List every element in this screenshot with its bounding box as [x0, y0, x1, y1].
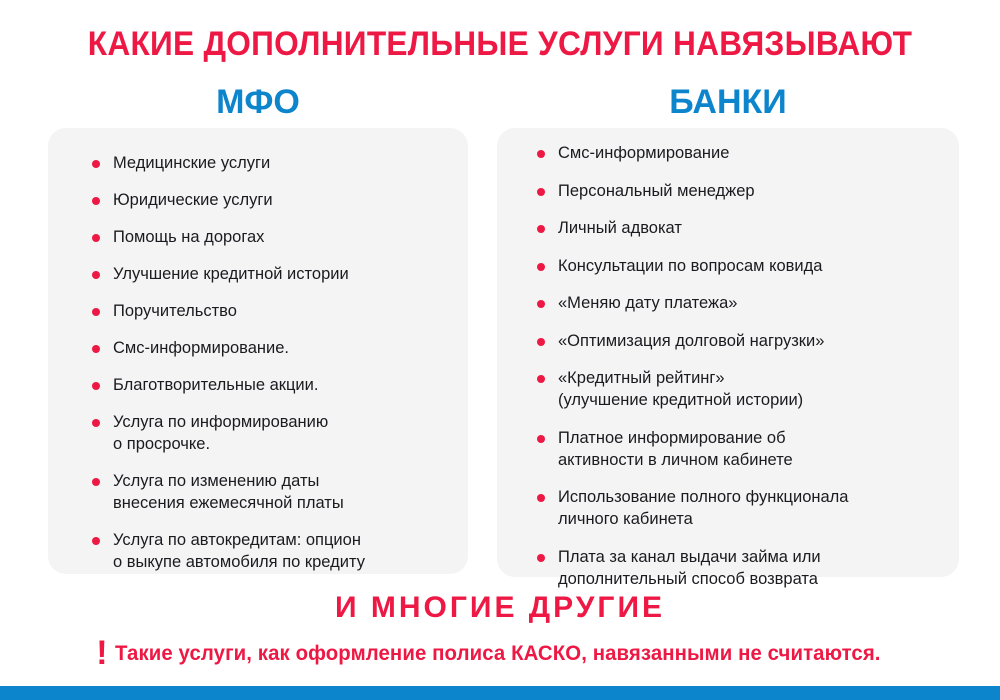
- list-item: Смс-информирование.: [92, 337, 448, 359]
- exclamation-icon: !: [96, 640, 107, 666]
- bullet-dot-icon: [92, 308, 100, 316]
- bullet-dot-icon: [92, 345, 100, 353]
- bullet-dot-icon: [92, 537, 100, 545]
- list-item: Использование полного функционала личног…: [537, 486, 941, 530]
- list-item: Медицинские услуги: [92, 152, 448, 174]
- bullet-dot-icon: [537, 300, 545, 308]
- list-item-label: «Меняю дату платежа»: [558, 292, 941, 314]
- bullet-dot-icon: [92, 160, 100, 168]
- list-item: Поручительство: [92, 300, 448, 322]
- bullet-dot-icon: [537, 554, 545, 562]
- bullet-dot-icon: [92, 234, 100, 242]
- list-item-label: Персональный менеджер: [558, 180, 941, 202]
- list-item-label: Услуга по изменению даты внесения ежемес…: [113, 470, 448, 514]
- list-item-label: Помощь на дорогах: [113, 226, 448, 248]
- bullet-dot-icon: [537, 225, 545, 233]
- list-item-label: Поручительство: [113, 300, 448, 322]
- bullet-dot-icon: [537, 188, 545, 196]
- list-item: «Оптимизация долговой нагрузки»: [537, 330, 941, 352]
- list-item-label: Благотворительные акции.: [113, 374, 448, 396]
- list-item-label: Услуга по автокредитам: опцион о выкупе …: [113, 529, 448, 573]
- list-item-label: Использование полного функционала личног…: [558, 486, 941, 530]
- list-item: Юридические услуги: [92, 189, 448, 211]
- service-list-banks: Смс-информирование Персональный менеджер…: [497, 128, 959, 605]
- footer-disclaimer-text: Такие услуги, как оформление полиса КАСК…: [115, 641, 881, 667]
- bullet-dot-icon: [92, 419, 100, 427]
- list-item: «Кредитный рейтинг» (улучшение кредитной…: [537, 367, 941, 411]
- list-item: Помощь на дорогах: [92, 226, 448, 248]
- list-item-label: «Кредитный рейтинг» (улучшение кредитной…: [558, 367, 941, 411]
- list-item: Персональный менеджер: [537, 180, 941, 202]
- footer-disclaimer: !Такие услуги, как оформление полиса КАС…: [0, 640, 1000, 667]
- list-item-label: Медицинские услуги: [113, 152, 448, 174]
- list-item-label: Улучшение кредитной истории: [113, 263, 448, 285]
- list-item: Улучшение кредитной истории: [92, 263, 448, 285]
- bullet-dot-icon: [92, 478, 100, 486]
- card-banks: Смс-информирование Персональный менеджер…: [497, 128, 959, 577]
- card-mfo: Медицинские услуги Юридические услуги По…: [48, 128, 468, 574]
- list-item: Консультации по вопросам ковида: [537, 255, 941, 277]
- service-list-mfo: Медицинские услуги Юридические услуги По…: [48, 128, 468, 588]
- bullet-dot-icon: [537, 150, 545, 158]
- list-item: Услуга по изменению даты внесения ежемес…: [92, 470, 448, 514]
- list-item: Смс-информирование: [537, 142, 941, 164]
- list-item: Личный адвокат: [537, 217, 941, 239]
- list-item-label: Личный адвокат: [558, 217, 941, 239]
- list-item: Услуга по информированию о просрочке.: [92, 411, 448, 455]
- column-heading-mfo: МФО: [48, 82, 468, 122]
- bottom-accent-bar: [0, 686, 1000, 700]
- list-item-label: Смс-информирование: [558, 142, 941, 164]
- list-item-label: Плата за канал выдачи займа или дополнит…: [558, 546, 941, 590]
- bullet-dot-icon: [537, 338, 545, 346]
- bullet-dot-icon: [92, 271, 100, 279]
- bullet-dot-icon: [92, 382, 100, 390]
- bullet-dot-icon: [537, 263, 545, 271]
- list-item: «Меняю дату платежа»: [537, 292, 941, 314]
- bullet-dot-icon: [537, 435, 545, 443]
- infographic-poster: КАКИЕ ДОПОЛНИТЕЛЬНЫЕ УСЛУГИ НАВЯЗЫВАЮТ М…: [0, 0, 1000, 700]
- list-item-label: Смс-информирование.: [113, 337, 448, 359]
- bullet-dot-icon: [537, 375, 545, 383]
- list-item: Услуга по автокредитам: опцион о выкупе …: [92, 529, 448, 573]
- list-item-label: Консультации по вопросам ковида: [558, 255, 941, 277]
- bullet-dot-icon: [537, 494, 545, 502]
- list-item: Благотворительные акции.: [92, 374, 448, 396]
- list-item-label: Юридические услуги: [113, 189, 448, 211]
- bullet-dot-icon: [92, 197, 100, 205]
- list-item: Платное информирование об активности в л…: [537, 427, 941, 471]
- list-item-label: Платное информирование об активности в л…: [558, 427, 941, 471]
- footer-headline: И МНОГИЕ ДРУГИЕ: [0, 590, 1000, 626]
- list-item-label: Услуга по информированию о просрочке.: [113, 411, 448, 455]
- list-item: Плата за канал выдачи займа или дополнит…: [537, 546, 941, 590]
- page-title: КАКИЕ ДОПОЛНИТЕЛЬНЫЕ УСЛУГИ НАВЯЗЫВАЮТ: [35, 24, 965, 64]
- list-item-label: «Оптимизация долговой нагрузки»: [558, 330, 941, 352]
- column-heading-banks: БАНКИ: [497, 82, 959, 122]
